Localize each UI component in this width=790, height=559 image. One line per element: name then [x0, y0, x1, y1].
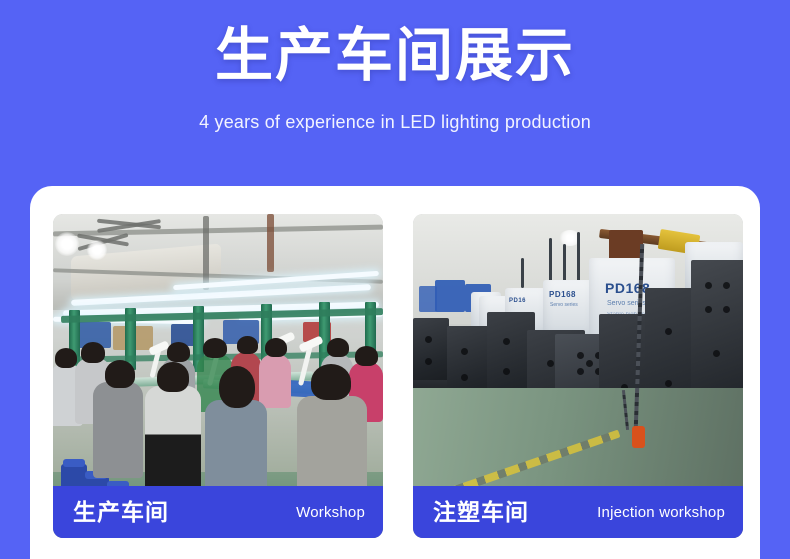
- machine-series-label: Servo series: [550, 302, 578, 308]
- machine-model-label: PD168: [549, 290, 576, 299]
- antenna: [549, 238, 552, 286]
- pendant-lamp: [87, 240, 107, 260]
- header: 生产车间展示 4 years of experience in LED ligh…: [0, 0, 790, 186]
- raw-material-sack: [435, 280, 465, 312]
- worker-head: [355, 346, 378, 366]
- page-title: 生产车间展示: [0, 22, 790, 90]
- hoist-hook-handle: [632, 426, 645, 448]
- raw-material-sack: [419, 286, 437, 312]
- worker: [145, 386, 201, 496]
- caption-bar: 注塑车间 Injection workshop: [413, 486, 743, 538]
- worker-head: [237, 336, 258, 354]
- worker-head: [311, 364, 351, 400]
- antenna: [521, 258, 524, 288]
- worker-head: [265, 338, 287, 357]
- worker: [93, 382, 143, 478]
- machine-model-label: PD168: [605, 280, 650, 296]
- ceiling-post: [267, 214, 274, 272]
- worker-head: [327, 338, 349, 357]
- worker-head: [167, 342, 190, 362]
- gallery-item[interactable]: PD16 PD168 Servo series PD168 Servo seri…: [413, 214, 743, 538]
- worker-head: [219, 366, 255, 408]
- worker-head: [105, 360, 135, 388]
- worker: [259, 354, 291, 408]
- worker-head: [55, 348, 77, 368]
- pendant-lamp: [55, 232, 79, 256]
- gallery-grid: 生产车间 Workshop: [53, 214, 759, 544]
- worker-head: [203, 338, 227, 358]
- worker-head: [157, 362, 189, 392]
- caption-title-cn: 生产车间: [73, 501, 169, 524]
- ceiling-post: [203, 216, 209, 290]
- worker-head: [81, 342, 105, 363]
- gallery-item[interactable]: 生产车间 Workshop: [53, 214, 383, 538]
- caption-bar: 生产车间 Workshop: [53, 486, 383, 538]
- promo-banner: 生产车间展示 4 years of experience in LED ligh…: [0, 0, 790, 559]
- caption-title-en: Workshop: [296, 504, 365, 521]
- page-subtitle: 4 years of experience in LED lighting pr…: [0, 112, 790, 133]
- caption-title-en: Injection workshop: [597, 504, 725, 521]
- machine-model-label: PD16: [509, 298, 526, 304]
- caption-title-cn: 注塑车间: [433, 501, 529, 524]
- gallery-card: 生产车间 Workshop: [30, 186, 760, 559]
